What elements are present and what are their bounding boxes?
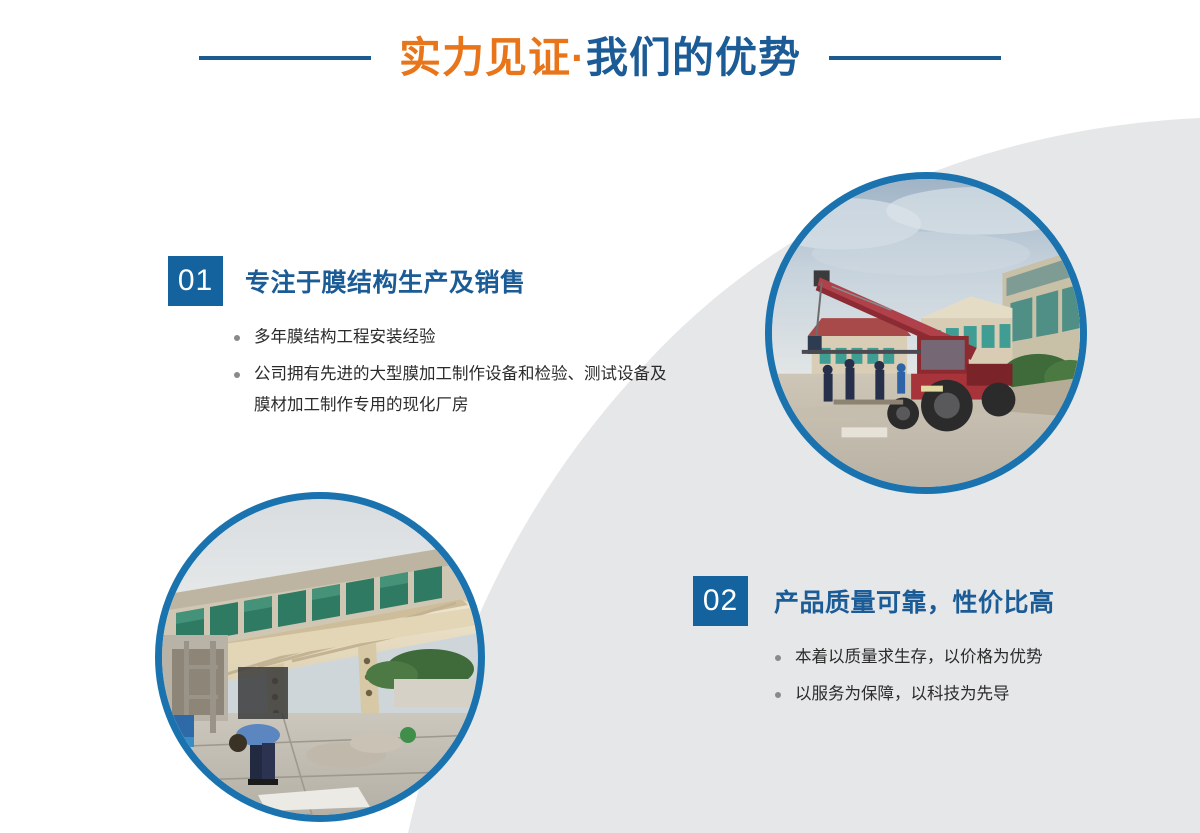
feature-01-heading-row: 01 专注于膜结构生产及销售	[168, 256, 674, 306]
list-item: 以服务为保障，以科技为先导	[773, 679, 1055, 710]
feature-block-01: 01 专注于膜结构生产及销售 多年膜结构工程安装经验 公司拥有先进的大型膜加工制…	[168, 256, 674, 427]
feature-01-number-badge: 01	[168, 256, 223, 306]
list-item-text: 以服务为保障，以科技为先导	[795, 685, 1010, 703]
page-title: 实力见证·我们的优势	[399, 37, 801, 79]
list-item-text: 公司拥有先进的大型膜加工制作设备和检验、测试设备及膜材加工制作专用的现化厂房	[254, 365, 667, 414]
page-header: 实力见证·我们的优势	[0, 22, 1200, 94]
feature-01-title: 专注于膜结构生产及销售	[245, 263, 526, 299]
page-title-separator-dot: ·	[571, 34, 586, 81]
header-rule-right	[829, 56, 1001, 60]
photo-membrane-canopy-inner	[162, 499, 478, 815]
membrane-canopy-illustration	[162, 499, 478, 815]
photo-membrane-canopy-installation	[155, 492, 485, 822]
crane-truck-illustration	[772, 179, 1080, 487]
list-item: 本着以质量求生存，以价格为优势	[773, 642, 1055, 673]
list-item-text: 本着以质量求生存，以价格为优势	[795, 648, 1043, 666]
bullet-dot-icon	[234, 372, 240, 378]
list-item: 多年膜结构工程安装经验	[232, 322, 674, 353]
feature-01-bullet-list: 多年膜结构工程安装经验 公司拥有先进的大型膜加工制作设备和检验、测试设备及膜材加…	[232, 322, 674, 421]
feature-block-02: 02 产品质量可靠，性价比高 本着以质量求生存，以价格为优势 以服务为保障，以科…	[693, 576, 1055, 716]
bullet-dot-icon	[234, 335, 240, 341]
bullet-dot-icon	[775, 655, 781, 661]
promo-page: 实力见证·我们的优势 01 专注于膜结构生产及销售 多年膜结构工程安装经验 公司…	[0, 0, 1200, 833]
photo-crane-truck-inner	[772, 179, 1080, 487]
list-item-text: 多年膜结构工程安装经验	[254, 328, 436, 346]
header-rule-left	[199, 56, 371, 60]
feature-02-bullet-list: 本着以质量求生存，以价格为优势 以服务为保障，以科技为先导	[773, 642, 1055, 710]
list-item: 公司拥有先进的大型膜加工制作设备和检验、测试设备及膜材加工制作专用的现化厂房	[232, 359, 674, 421]
bullet-dot-icon	[775, 692, 781, 698]
page-title-orange: 实力见证	[399, 34, 571, 81]
feature-02-heading-row: 02 产品质量可靠，性价比高	[693, 576, 1055, 626]
feature-02-title: 产品质量可靠，性价比高	[774, 583, 1055, 619]
page-title-blue: 我们的优势	[586, 34, 801, 81]
feature-02-number-badge: 02	[693, 576, 748, 626]
photo-crane-truck-construction-site	[765, 172, 1087, 494]
